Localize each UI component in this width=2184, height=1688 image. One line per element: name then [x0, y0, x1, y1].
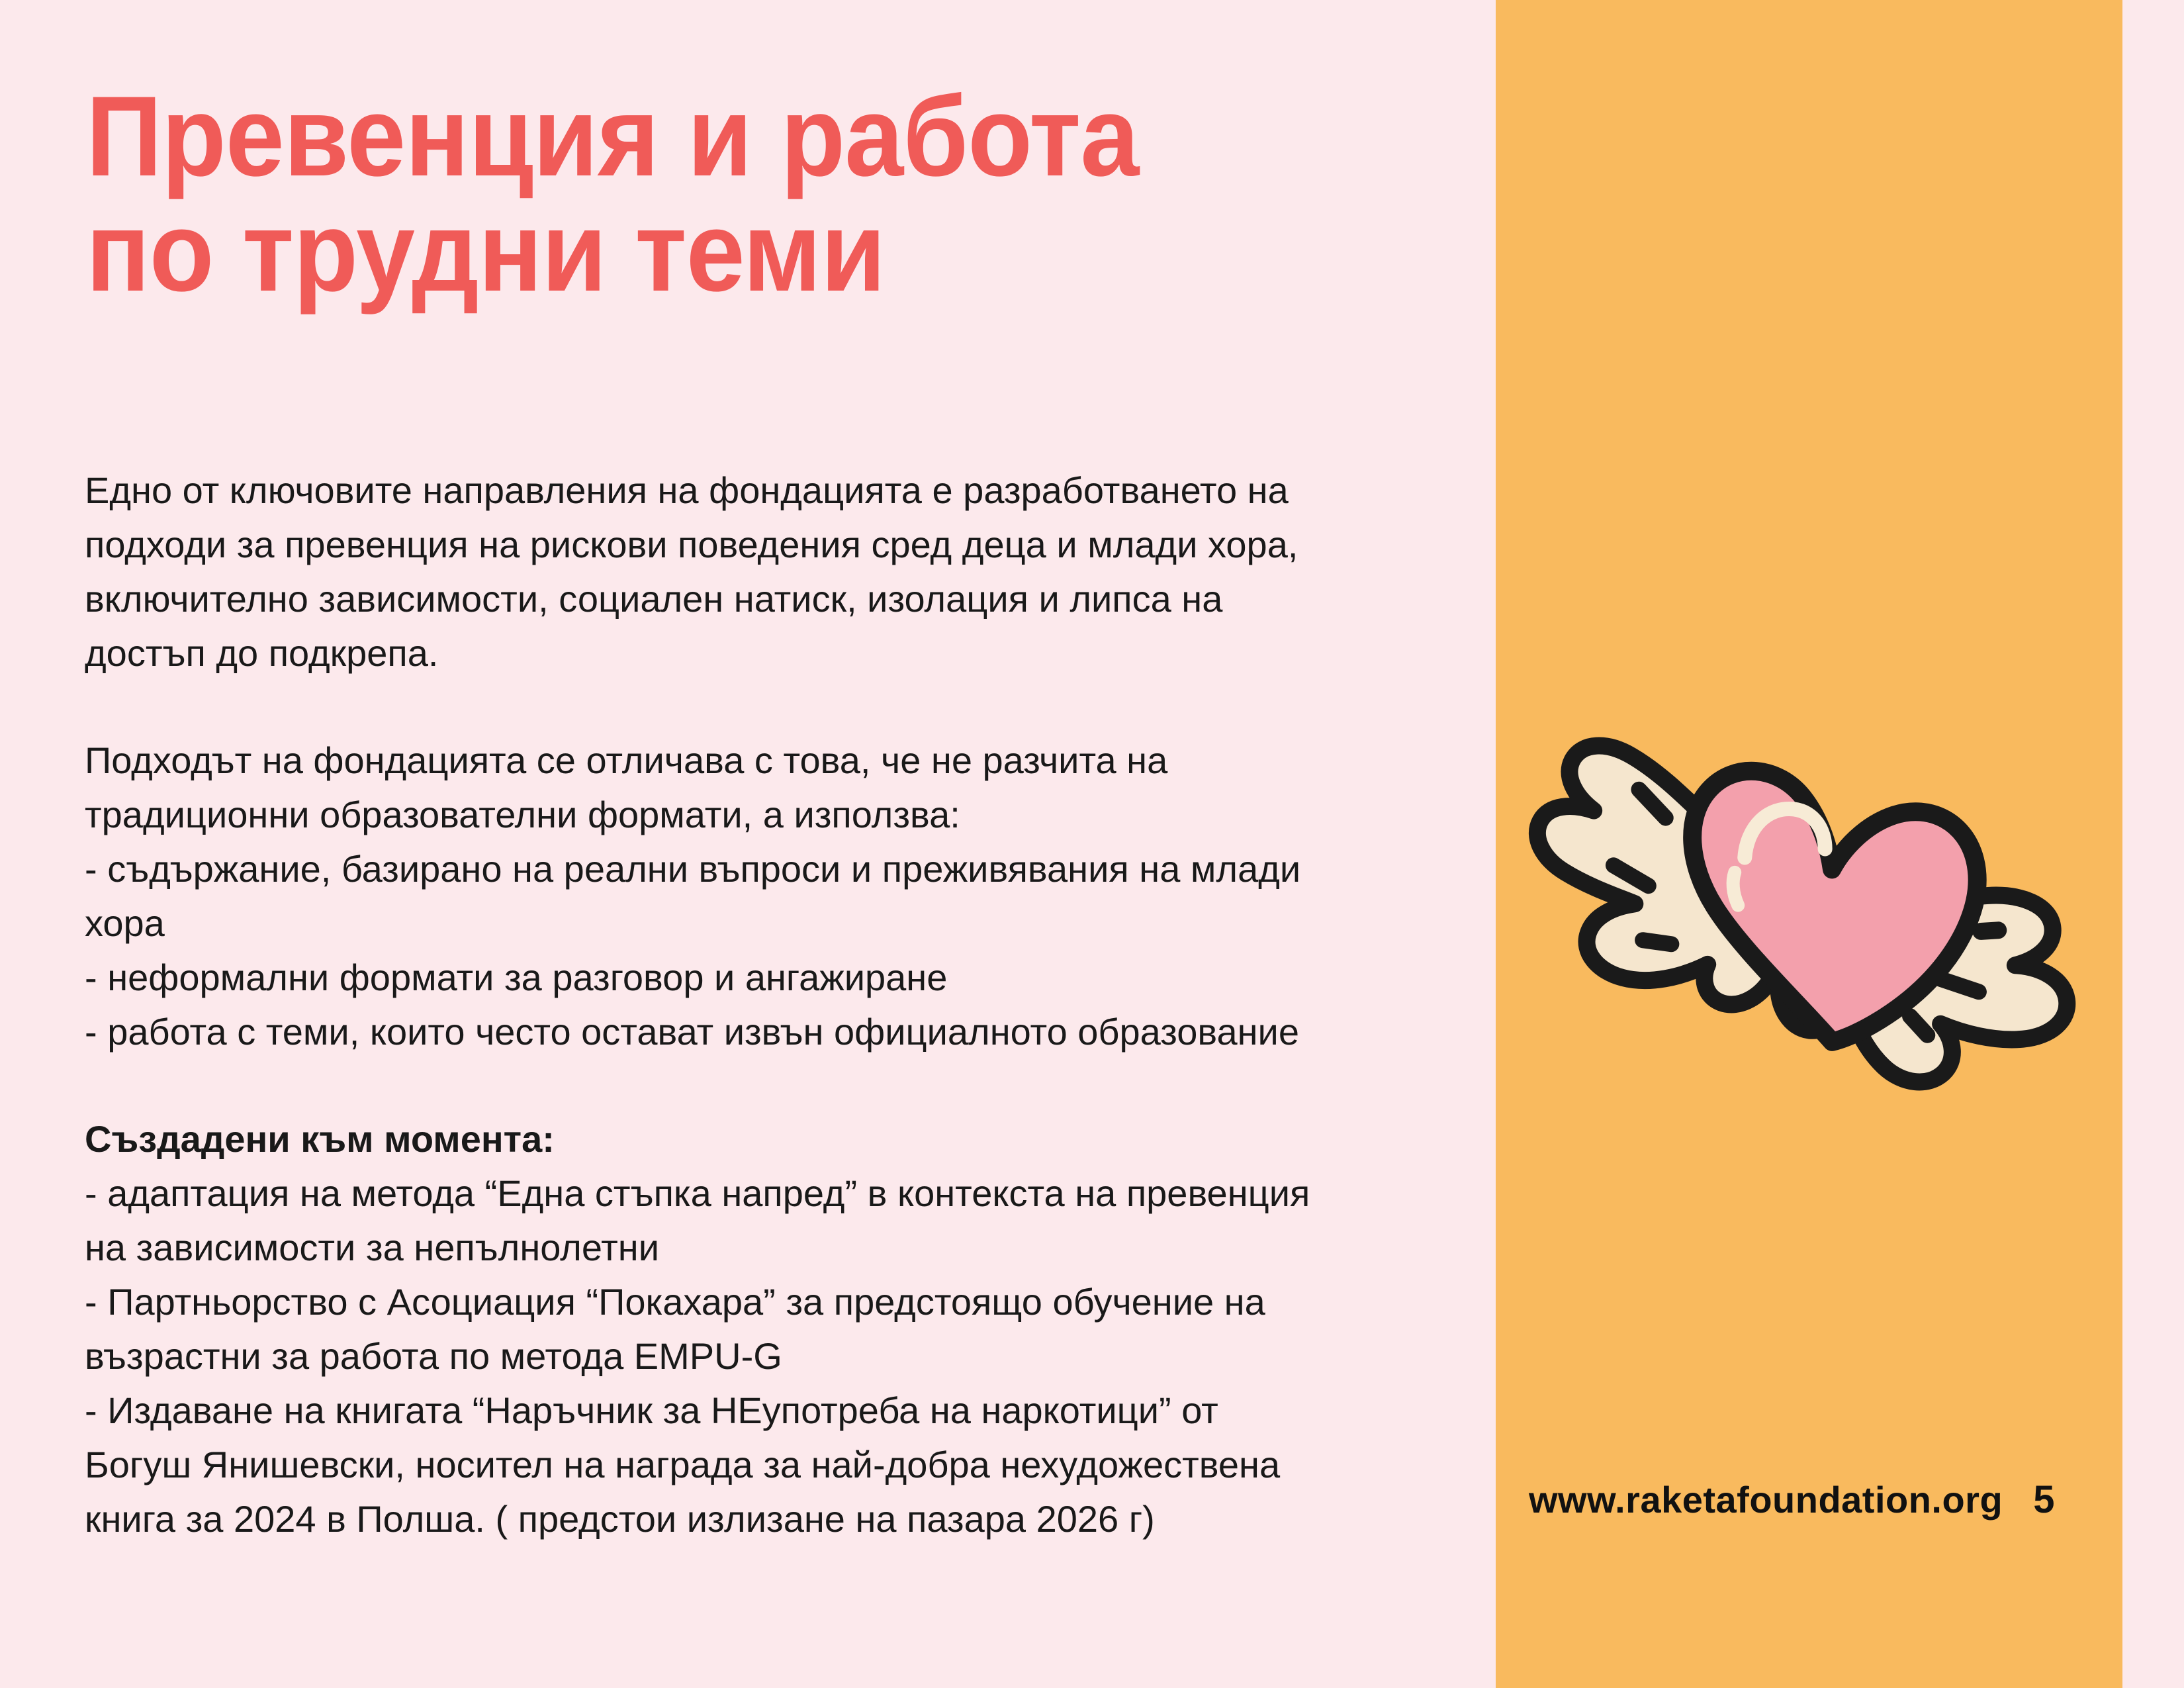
bullet-line-continued: Богуш Янишевски, носител на награда за н…	[85, 1438, 1448, 1492]
bullet-line: - Издаване на книгата “Наръчник за НЕупо…	[85, 1383, 1448, 1438]
paragraph-created: Създадени към момента: - адаптация на ме…	[85, 1112, 1448, 1546]
body-copy: Едно от ключовите направления на фондаци…	[85, 463, 1448, 1546]
bullet-line-continued: възрастни за работа по метода EMPU-G	[85, 1329, 1448, 1383]
page-title: Превенция и работа по трудни теми	[86, 93, 1443, 323]
page-title-line-1: Превенция и работа	[86, 93, 1348, 180]
website-link[interactable]: www.raketafoundation.org	[1529, 1478, 2003, 1521]
bullet-line-continued: книга за 2024 в Полша. ( предстои излиза…	[85, 1492, 1448, 1546]
winged-heart-icon	[1497, 639, 2132, 1102]
paragraph-line: Едно от ключовите направления на фондаци…	[85, 463, 1448, 518]
bullet-line-continued: хора	[85, 896, 1448, 951]
paragraph-line: включително зависимости, социален натиск…	[85, 572, 1448, 626]
paragraph-line: подходи за превенция на рискови поведени…	[85, 518, 1448, 572]
slide-root: Превенция и работа по трудни теми Едно о…	[0, 0, 2184, 1688]
bullet-line: - съдържание, базирано на реални въпроси…	[85, 842, 1448, 896]
bullet-line: - работа с теми, които често остават изв…	[85, 1005, 1448, 1059]
bullet-line: - Партньорство с Асоциация “Покахара” за…	[85, 1275, 1448, 1329]
panel-footer: www.raketafoundation.org 5	[1529, 1477, 2055, 1522]
paragraph-line: традиционни образователни формати, а изп…	[85, 788, 1448, 842]
section-subheading: Създадени към момента:	[85, 1112, 1448, 1166]
page-number: 5	[2033, 1477, 2055, 1522]
paragraph-intro: Едно от ключовите направления на фондаци…	[85, 463, 1448, 680]
paragraph-line: достъп до подкрепа.	[85, 626, 1448, 680]
bullet-line: - неформални формати за разговор и ангаж…	[85, 951, 1448, 1005]
bullet-line-continued: на зависимости за непълнолетни	[85, 1221, 1448, 1275]
paragraph-approach: Подходът на фондацията се отличава с тов…	[85, 733, 1448, 1059]
paragraph-line: Подходът на фондацията се отличава с тов…	[85, 733, 1448, 788]
page-title-line-2: по трудни теми	[86, 208, 1348, 295]
bullet-line: - адаптация на метода “Една стъпка напре…	[85, 1166, 1448, 1221]
